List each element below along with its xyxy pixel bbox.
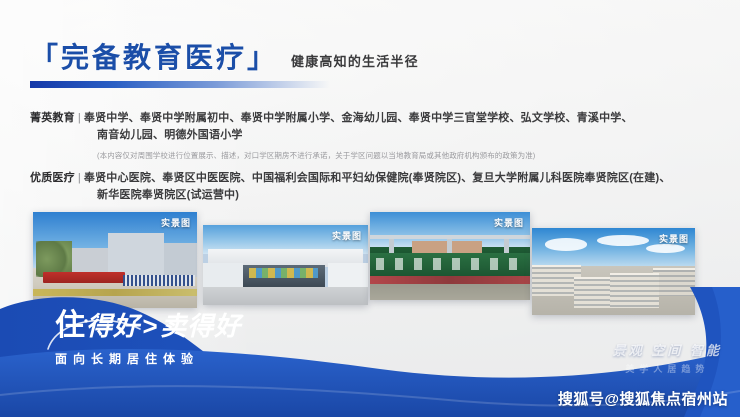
tagline-line-1: 景观 空间 智能 <box>613 340 722 359</box>
photo-tag-label: 实景图 <box>161 216 191 229</box>
brand-slogan-arrow: > <box>140 311 160 341</box>
photo-colored-glass <box>249 268 318 278</box>
title-main-text: 「完备教育医疗」 <box>30 44 278 72</box>
education-label: 菁英教育 <box>30 112 75 124</box>
education-line-2: 南音幼儿园、明德外国语小学 <box>30 127 720 144</box>
tagline-line-2: 美学人居趋势 <box>613 362 722 375</box>
brand-subtitle: 面向长期居住体验 <box>55 350 241 367</box>
medical-line-2: 新华医院奉贤院区(试运营中) <box>30 187 720 204</box>
photo-fence <box>123 275 195 286</box>
brand-slogan-part2: 卖得好 <box>160 311 241 341</box>
photo-wing-left <box>203 263 243 287</box>
slide-canvas: 「完备教育医疗」 健康高知的生活半径 菁英教育|奉贤中学、奉贤中学附属初中、奉贤… <box>0 0 740 417</box>
medical-separator: | <box>75 172 84 184</box>
education-text-1: 奉贤中学、奉贤中学附属初中、奉贤中学附属小学、金海幼儿园、奉贤中学三官堂学校、弘… <box>84 112 633 124</box>
medical-section: 优质医疗|奉贤中心医院、奉贤区中医医院、中国福利会国际和平妇幼保健院(奉贤院区)… <box>30 170 720 204</box>
photo-tag-label: 实景图 <box>494 216 524 229</box>
footer-right-tagline: 景观 空间 智能 美学人居趋势 <box>613 340 722 375</box>
title-subtitle-text: 健康高知的生活半径 <box>291 51 419 70</box>
brand-slogan-part1: 得好 <box>86 311 140 341</box>
education-disclaimer: (本内容仅对周围学校进行位置展示、描述，对口学区期房不进行承诺，关于学区问题以当… <box>30 150 720 161</box>
brand-slogan-lead: 住 <box>55 309 86 342</box>
medical-line-1: 优质医疗|奉贤中心医院、奉贤区中医医院、中国福利会国际和平妇幼保健院(奉贤院区)… <box>30 170 720 187</box>
sohu-watermark: 搜狐号@搜狐焦点宿州站 <box>558 388 728 409</box>
page-title: 「完备教育医疗」 健康高知的生活半径 <box>30 44 419 88</box>
footer-brand: 住得好>卖得好 面向长期居住体验 <box>55 311 241 367</box>
photo-tag-label: 实景图 <box>332 229 362 242</box>
education-line-1: 菁英教育|奉贤中学、奉贤中学附属初中、奉贤中学附属小学、金海幼儿园、奉贤中学三官… <box>30 110 720 127</box>
photo-flower-bed <box>370 276 530 284</box>
photo-tag-label: 实景图 <box>659 232 689 245</box>
medical-text-1: 奉贤中心医院、奉贤区中医医院、中国福利会国际和平妇幼保健院(奉贤院区)、复旦大学… <box>84 172 671 184</box>
photo-building-main <box>108 233 164 277</box>
title-underline-bar <box>30 81 330 88</box>
education-separator: | <box>75 112 84 124</box>
photo-overpass-beam <box>370 235 530 239</box>
photo-hedge-lettering <box>376 258 523 270</box>
education-section: 菁英教育|奉贤中学、奉贤中学附属初中、奉贤中学附属小学、金海幼儿园、奉贤中学三官… <box>30 110 720 161</box>
photo-building-right <box>164 243 197 278</box>
brand-slogan: 住得好>卖得好 <box>55 311 241 341</box>
photo-cloud <box>545 238 587 250</box>
photo-wing-right <box>328 263 368 287</box>
photo-red-sign <box>43 272 125 284</box>
medical-label: 优质医疗 <box>30 172 75 184</box>
